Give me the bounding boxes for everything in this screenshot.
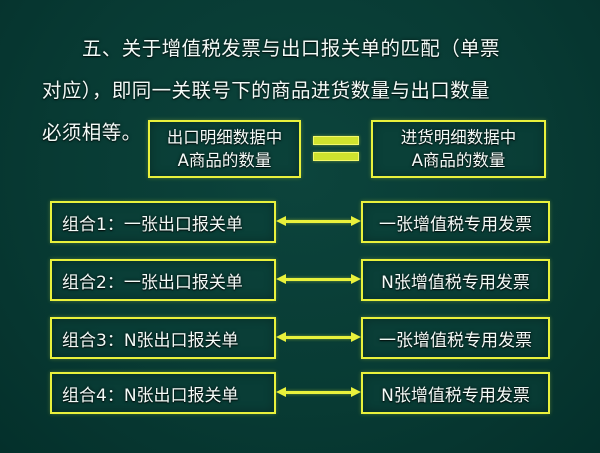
combination-3-right-box: 一张增值税专用发票 bbox=[361, 317, 550, 359]
combination-2-left-label: 组合2：一张出口报关单 bbox=[62, 268, 243, 293]
double-headed-arrow-icon bbox=[276, 387, 361, 399]
combination-row: 组合3：N张出口报关单 一张增值税专用发票 bbox=[0, 317, 600, 359]
heading-line-1: 五、关于增值税发票与出口报关单的匹配（单票 bbox=[42, 28, 562, 70]
presentation-slide: 五、关于增值税发票与出口报关单的匹配（单票 对应），即同一关联号下的商品进货数量… bbox=[0, 0, 600, 453]
combination-3-left-label: 组合3：N张出口报关单 bbox=[62, 326, 239, 351]
double-headed-arrow-icon bbox=[276, 332, 361, 344]
export-detail-box-line-2: A商品的数量 bbox=[167, 149, 283, 172]
combination-4-left-box: 组合4：N张出口报关单 bbox=[50, 372, 276, 414]
purchase-detail-quantity-box: 进货明细数据中 A商品的数量 bbox=[371, 120, 546, 178]
combination-2-right-label: N张增值税专用发票 bbox=[381, 268, 530, 293]
arrow-head-right-icon bbox=[351, 216, 361, 226]
combination-2-left-box: 组合2：一张出口报关单 bbox=[50, 259, 276, 301]
double-headed-arrow-icon bbox=[276, 216, 361, 228]
heading-line-2: 对应），即同一关联号下的商品进货数量与出口数量 bbox=[42, 70, 562, 112]
equals-bar-bottom bbox=[313, 152, 359, 161]
combination-row: 组合4：N张出口报关单 N张增值税专用发票 bbox=[0, 372, 600, 414]
combination-4-left-label: 组合4：N张出口报关单 bbox=[62, 381, 239, 406]
arrow-shaft bbox=[285, 336, 352, 339]
purchase-detail-box-line-2: A商品的数量 bbox=[401, 149, 517, 172]
arrow-shaft bbox=[285, 278, 352, 281]
combination-4-right-label: N张增值税专用发票 bbox=[381, 381, 530, 406]
combination-3-right-label: 一张增值税专用发票 bbox=[379, 326, 532, 351]
combination-3-left-box: 组合3：N张出口报关单 bbox=[50, 317, 276, 359]
arrow-shaft bbox=[285, 391, 352, 394]
combination-1-right-box: 一张增值税专用发票 bbox=[361, 201, 550, 243]
purchase-detail-box-line-1: 进货明细数据中 bbox=[401, 126, 517, 149]
export-detail-quantity-box: 出口明细数据中 A商品的数量 bbox=[148, 120, 301, 178]
combination-row: 组合2：一张出口报关单 N张增值税专用发票 bbox=[0, 259, 600, 301]
equals-bar-top bbox=[313, 136, 359, 145]
equals-sign-icon bbox=[313, 136, 359, 162]
export-detail-box-line-1: 出口明细数据中 bbox=[167, 126, 283, 149]
double-headed-arrow-icon bbox=[276, 274, 361, 286]
arrow-head-right-icon bbox=[351, 332, 361, 342]
arrow-head-right-icon bbox=[351, 387, 361, 397]
combination-4-right-box: N张增值税专用发票 bbox=[361, 372, 550, 414]
arrow-shaft bbox=[285, 220, 352, 223]
combination-row: 组合1：一张出口报关单 一张增值税专用发票 bbox=[0, 201, 600, 243]
combination-1-right-label: 一张增值税专用发票 bbox=[379, 210, 532, 235]
combination-1-left-box: 组合1：一张出口报关单 bbox=[50, 201, 276, 243]
arrow-head-right-icon bbox=[351, 274, 361, 284]
combination-2-right-box: N张增值税专用发票 bbox=[361, 259, 550, 301]
combination-1-left-label: 组合1：一张出口报关单 bbox=[62, 210, 243, 235]
